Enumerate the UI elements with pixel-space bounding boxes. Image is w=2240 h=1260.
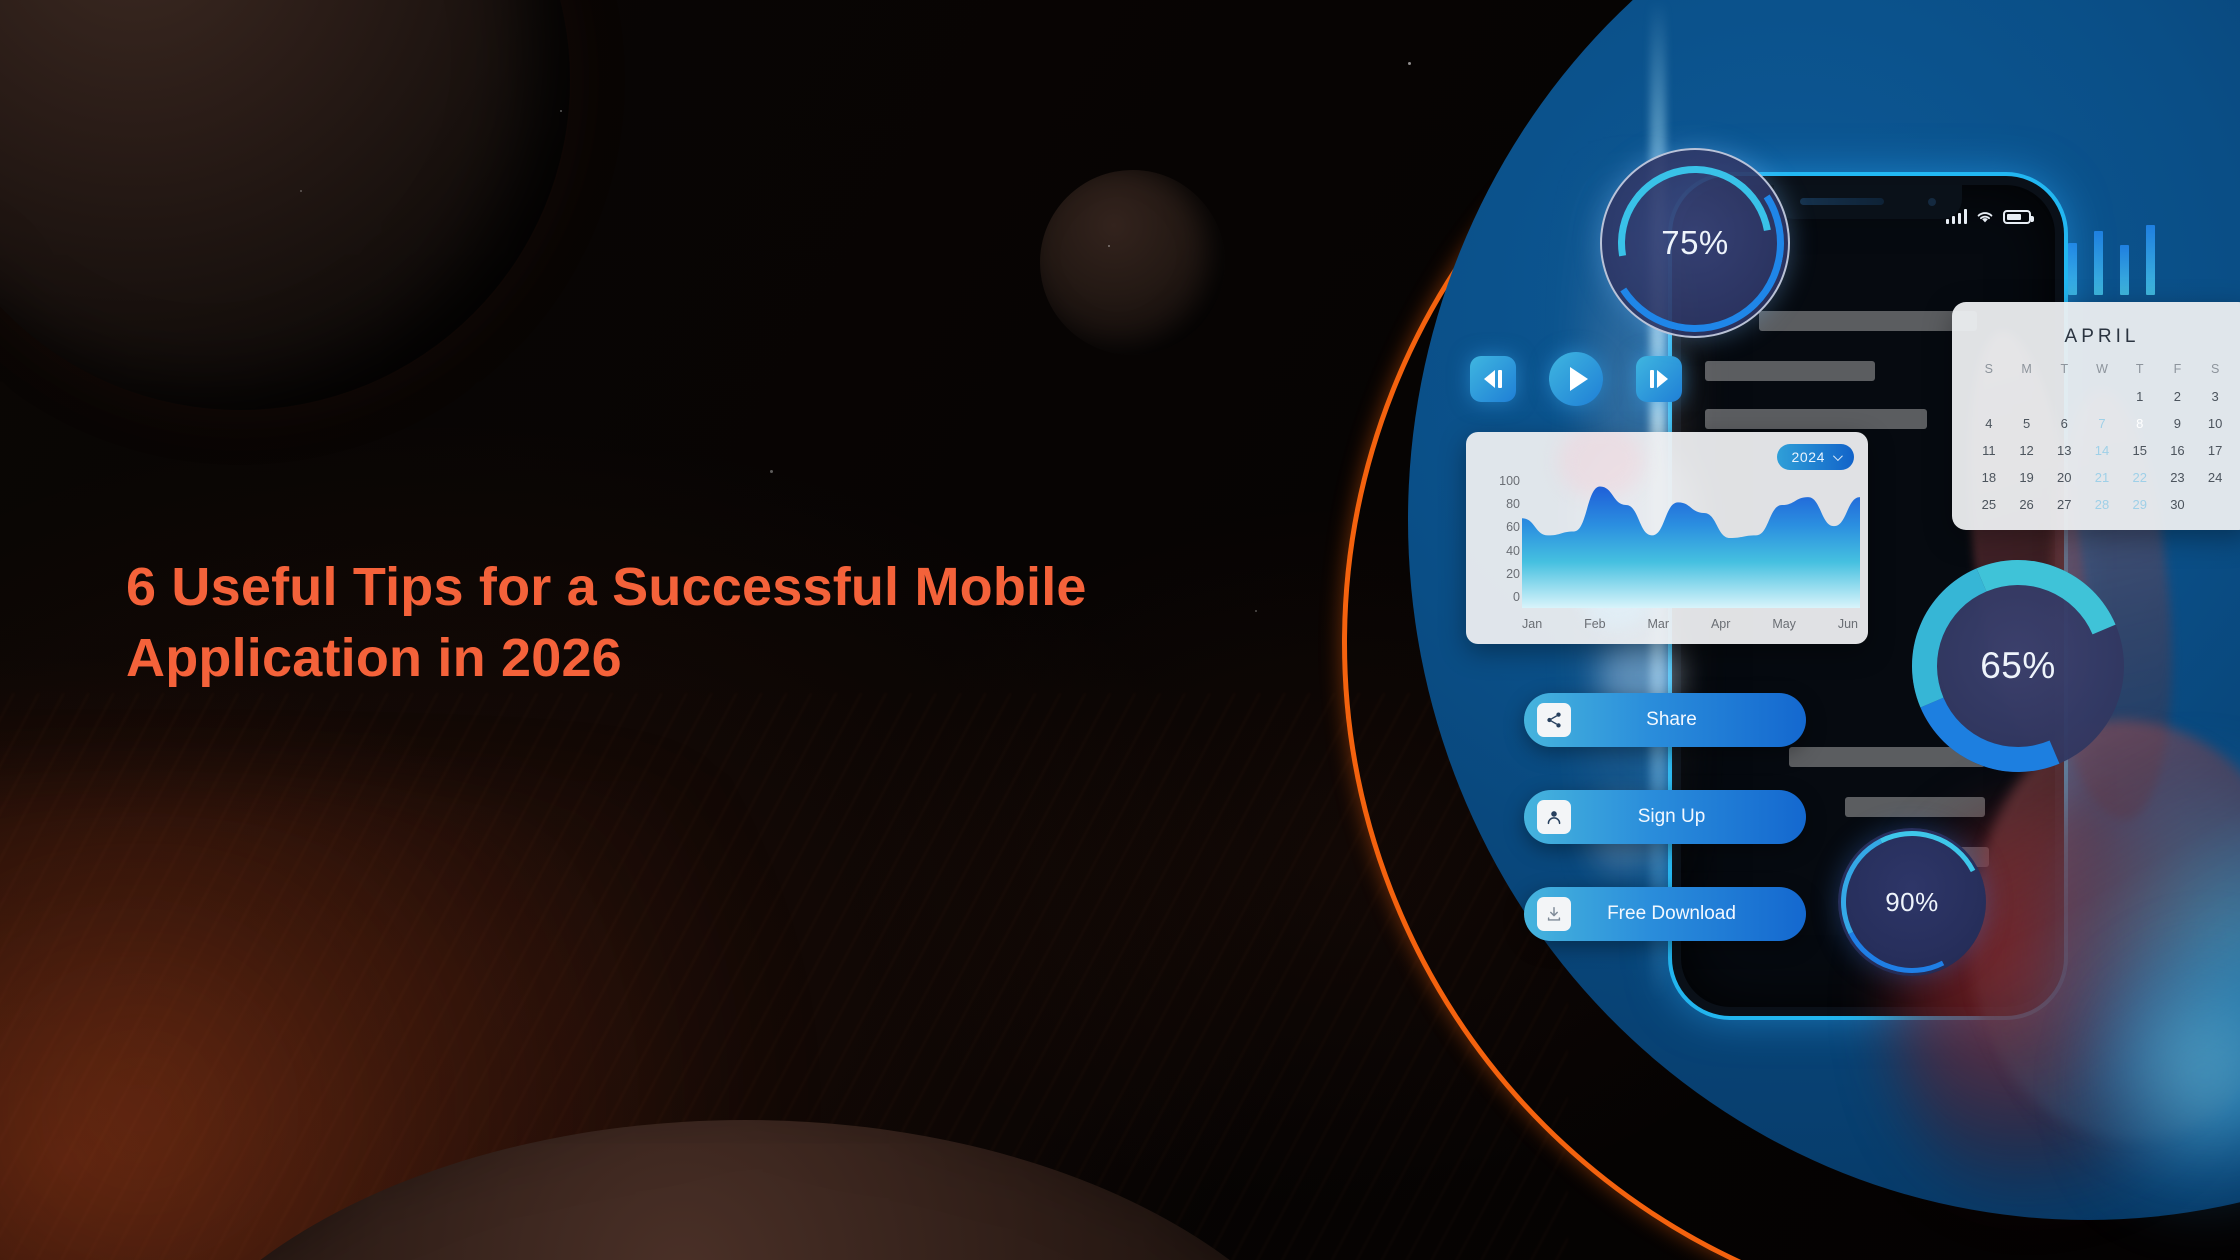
sign-up-button[interactable]: Sign Up	[1524, 790, 1806, 844]
chevron-down-icon	[1833, 451, 1843, 461]
year-selector[interactable]: 2024	[1777, 444, 1854, 470]
content-placeholder-bar	[1759, 311, 1977, 331]
calendar-day[interactable]: 21	[2083, 468, 2121, 488]
calendar-day[interactable]: 10	[2196, 414, 2234, 434]
previous-button[interactable]	[1470, 356, 1516, 402]
page-title: 6 Useful Tips for a Successful Mobile Ap…	[126, 552, 1156, 695]
calendar-day[interactable]: 24	[2196, 468, 2234, 488]
planet-moon-icon	[1040, 170, 1225, 355]
signal-bars-icon	[1946, 209, 1968, 224]
free-download-button-label: Free Download	[1571, 903, 1806, 925]
calendar-weekday: S	[2196, 362, 2234, 380]
earpiece-speaker	[1800, 198, 1884, 205]
y-tick: 0	[1513, 590, 1520, 604]
share-button[interactable]: Share	[1524, 693, 1806, 747]
content-placeholder-bar	[1845, 797, 1985, 817]
calendar-blank	[1970, 387, 2008, 407]
calendar-day[interactable]: 20	[2045, 468, 2083, 488]
calendar-day[interactable]: 12	[2008, 441, 2046, 461]
x-tick: May	[1772, 617, 1796, 631]
calendar-day[interactable]: 6	[2045, 414, 2083, 434]
calendar-blank	[2083, 387, 2121, 407]
y-tick: 60	[1506, 520, 1520, 534]
calendar-day[interactable]: 18	[1970, 468, 2008, 488]
phone-status-bar	[1946, 209, 2032, 224]
calendar-weekday: F	[2159, 362, 2197, 380]
y-tick: 100	[1499, 474, 1520, 488]
star-icon	[300, 190, 302, 192]
star-icon	[560, 110, 562, 112]
calendar-weekday: M	[2008, 362, 2046, 380]
calendar-day[interactable]: 11	[1970, 441, 2008, 461]
calendar-day[interactable]: 14	[2083, 441, 2121, 461]
calendar-widget: APRIL SMTWTFS123456789101112131415161718…	[1952, 302, 2240, 530]
bar-3	[2094, 231, 2103, 295]
calendar-day[interactable]: 28	[2083, 495, 2121, 515]
calendar-day[interactable]: 16	[2159, 441, 2197, 461]
calendar-blank	[2045, 387, 2083, 407]
star-icon	[1108, 245, 1110, 247]
calendar-weekday: T	[2045, 362, 2083, 380]
previous-icon	[1484, 370, 1502, 388]
chart-plot-area	[1522, 476, 1860, 608]
progress-ring-90: 90%	[1838, 828, 1986, 976]
free-download-button[interactable]: Free Download	[1524, 887, 1806, 941]
calendar-day[interactable]: 7	[2083, 414, 2121, 434]
x-tick: Feb	[1584, 617, 1606, 631]
calendar-month-label: APRIL	[1970, 326, 2234, 348]
calendar-day[interactable]: 27	[2045, 495, 2083, 515]
calendar-day[interactable]: 3	[2196, 387, 2234, 407]
y-tick: 80	[1506, 497, 1520, 511]
content-placeholder-bar	[1705, 361, 1875, 381]
calendar-day[interactable]: 30	[2159, 495, 2197, 515]
calendar-day[interactable]: 19	[2008, 468, 2046, 488]
share-icon	[1537, 703, 1571, 737]
calendar-day[interactable]: 23	[2159, 468, 2197, 488]
chart-y-axis: 100 80 60 40 20 0	[1478, 474, 1520, 604]
share-button-label: Share	[1571, 709, 1806, 731]
bar-2	[2068, 243, 2077, 295]
calendar-day[interactable]: 25	[1970, 495, 2008, 515]
ring-value-label: 90%	[1885, 887, 1939, 918]
media-controls	[1470, 352, 1682, 406]
play-icon	[1570, 367, 1588, 391]
ring-value-label: 65%	[1980, 645, 2056, 687]
next-button[interactable]	[1636, 356, 1682, 402]
area-chart-svg	[1522, 476, 1860, 608]
calendar-grid[interactable]: SMTWTFS123456789101112131415161718192021…	[1970, 362, 2234, 515]
x-tick: Mar	[1648, 617, 1670, 631]
calendar-weekday: T	[2121, 362, 2159, 380]
play-button[interactable]	[1549, 352, 1603, 406]
progress-ring-75: 75%	[1600, 148, 1790, 338]
calendar-day[interactable]: 22	[2121, 468, 2159, 488]
year-selector-label: 2024	[1791, 449, 1825, 465]
calendar-day[interactable]: 29	[2121, 495, 2159, 515]
calendar-day[interactable]: 15	[2121, 441, 2159, 461]
bar-5	[2146, 225, 2155, 295]
calendar-weekday: S	[1970, 362, 2008, 380]
x-tick: Jan	[1522, 617, 1542, 631]
hero-banner: 75% 2024 100 80 60 40 20 0	[0, 0, 2240, 1260]
download-icon	[1537, 897, 1571, 931]
calendar-day[interactable]: 26	[2008, 495, 2046, 515]
sign-up-button-label: Sign Up	[1571, 806, 1806, 828]
front-camera-icon	[1928, 198, 1936, 206]
star-icon	[1255, 610, 1257, 612]
star-icon	[1408, 62, 1411, 65]
bar-4	[2120, 245, 2129, 295]
calendar-day-selected[interactable]: 8	[2121, 414, 2159, 434]
x-tick: Jun	[1838, 617, 1858, 631]
calendar-day[interactable]: 2	[2159, 387, 2197, 407]
chart-x-axis: Jan Feb Mar Apr May Jun	[1522, 617, 1858, 631]
phone-notch	[1774, 185, 1962, 219]
next-icon	[1650, 370, 1668, 388]
calendar-day[interactable]: 13	[2045, 441, 2083, 461]
calendar-day[interactable]: 5	[2008, 414, 2046, 434]
y-tick: 20	[1506, 567, 1520, 581]
y-tick: 40	[1506, 544, 1520, 558]
analytics-chart-card: 2024 100 80 60 40 20 0	[1466, 432, 1868, 644]
calendar-day[interactable]: 1	[2121, 387, 2159, 407]
calendar-day[interactable]: 17	[2196, 441, 2234, 461]
ring-value-label: 75%	[1661, 224, 1729, 262]
calendar-blank	[2008, 387, 2046, 407]
wifi-icon	[1976, 210, 1994, 224]
calendar-weekday: W	[2083, 362, 2121, 380]
x-tick: Apr	[1711, 617, 1730, 631]
calendar-day[interactable]: 9	[2159, 414, 2197, 434]
calendar-day[interactable]: 4	[1970, 414, 2008, 434]
battery-icon	[2003, 210, 2031, 224]
content-placeholder-bar	[1705, 409, 1927, 429]
progress-ring-65: 65%	[1912, 560, 2124, 772]
star-icon	[770, 470, 773, 473]
user-icon	[1537, 800, 1571, 834]
